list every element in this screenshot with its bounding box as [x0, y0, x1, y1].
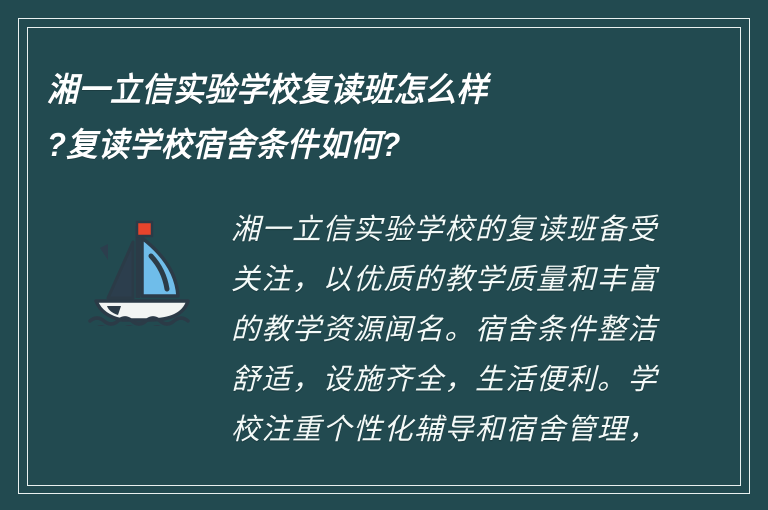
body-line-5: 校注重个性化辅导和宿舍管理， — [231, 404, 651, 454]
title-line-2: ?复读学校宿舍条件如何? — [47, 117, 667, 172]
body-line-4: 舒适，设施齐全，生活便利。学 — [231, 354, 651, 404]
body-line-1: 湘一立信实验学校的复读班备受 — [231, 204, 651, 254]
title-line-1: 湘一立信实验学校复读班怎么样 — [47, 62, 667, 117]
article-cover-card: 湘一立信实验学校复读班怎么样 ?复读学校宿舍条件如何? 湘 — [0, 0, 768, 510]
body-line-3: 的教学资源闻名。宿舍条件整洁 — [231, 304, 651, 354]
article-body-text: 湘一立信实验学校的复读班备受 关注，以优质的教学质量和丰富 的教学资源闻名。宿舍… — [231, 204, 651, 454]
page-title: 湘一立信实验学校复读班怎么样 ?复读学校宿舍条件如何? — [47, 62, 707, 172]
sailboat-icon — [88, 208, 203, 326]
body-line-2: 关注，以优质的教学质量和丰富 — [231, 254, 651, 304]
